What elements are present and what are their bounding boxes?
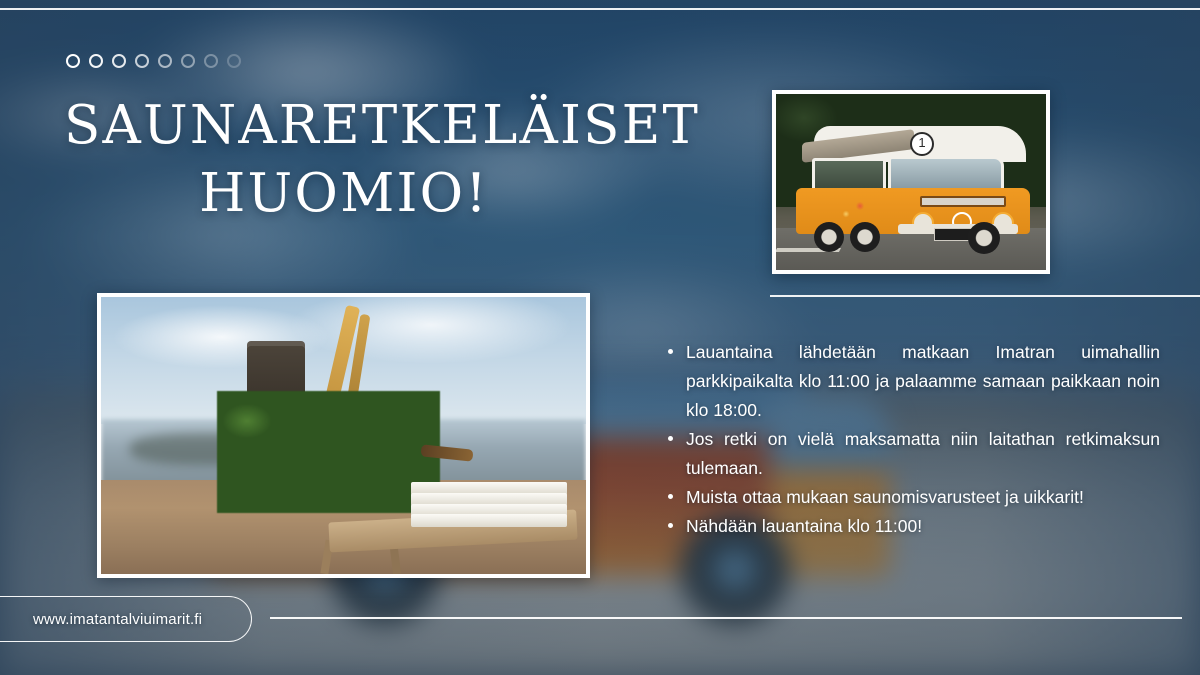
van-photo-image — [776, 94, 1046, 270]
circle-icon — [112, 54, 126, 68]
birch-whisk — [217, 391, 440, 513]
decorative-dots — [66, 54, 241, 68]
vw-campervan-illustration — [792, 126, 1040, 248]
circle-icon — [89, 54, 103, 68]
list-item: Jos retki on vielä maksamatta niin laita… — [686, 425, 1160, 483]
presentation-slide: SAUNARETKELÄISET HUOMIO! — [0, 0, 1200, 675]
website-url-pill[interactable]: www.imatantalviuimarit.fi — [0, 596, 252, 642]
circle-icon — [66, 54, 80, 68]
van-side-graphics — [806, 192, 880, 226]
list-item: Nähdään lauantaina klo 11:00! — [686, 512, 1160, 541]
list-item: Lauantaina lähdetään matkaan Imatran uim… — [686, 338, 1160, 425]
circle-icon — [158, 54, 172, 68]
van-wheel — [850, 222, 880, 252]
circle-icon — [227, 54, 241, 68]
list-item: Muista ottaa mukaan saunomisvarusteet ja… — [686, 483, 1160, 512]
van-wheel — [968, 222, 1000, 254]
circle-icon — [204, 54, 218, 68]
van-roof-badge — [910, 132, 934, 156]
bullet-text-1: Lauantaina lähdetään matkaan Imatran uim… — [686, 342, 1160, 420]
towel — [411, 514, 566, 527]
bullet-text-4: Nähdään lauantaina klo 11:00! — [686, 516, 922, 536]
bullet-text-2: Jos retki on vielä maksamatta niin laita… — [686, 429, 1160, 478]
sauna-photo-frame — [97, 293, 590, 578]
title-line-1: SAUNARETKELÄISET — [64, 92, 624, 160]
info-bullet-list: Lauantaina lähdetään matkaan Imatran uim… — [660, 338, 1160, 541]
title-line-2: HUOMIO! — [64, 160, 624, 228]
bullet-text-3: Muista ottaa mukaan saunomisvarusteet ja… — [686, 487, 1084, 507]
website-url-text: www.imatantalviuimarit.fi — [33, 611, 202, 628]
van-side-window — [812, 158, 886, 192]
van-grille — [920, 196, 1006, 207]
page-title: SAUNARETKELÄISET HUOMIO! — [64, 92, 624, 228]
bottom-divider-line — [270, 617, 1182, 619]
folded-towels — [411, 472, 566, 527]
van-wheel — [814, 222, 844, 252]
top-divider-line — [0, 8, 1200, 10]
van-photo-frame — [772, 90, 1050, 274]
circle-icon — [181, 54, 195, 68]
circle-icon — [135, 54, 149, 68]
sauna-photo-image — [101, 297, 586, 574]
right-divider-line — [770, 295, 1200, 297]
